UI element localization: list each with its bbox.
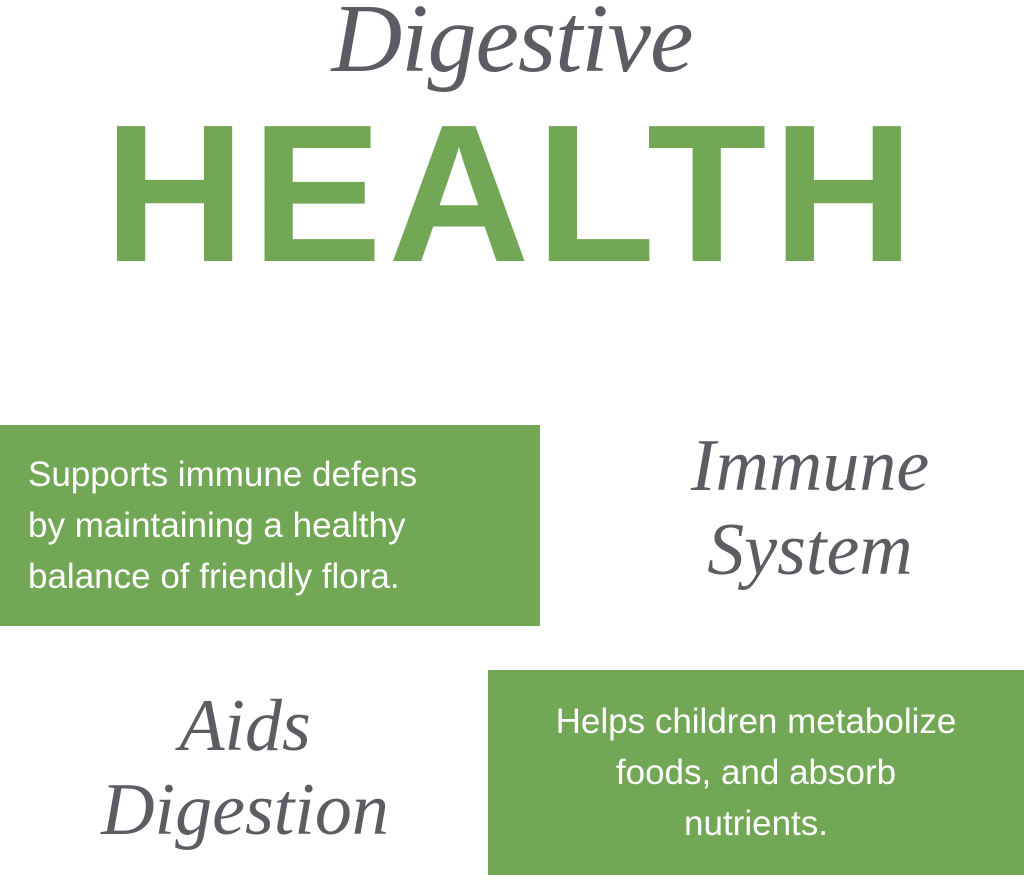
digestive-health-infographic: Digestive HEALTH Supports immune defens … bbox=[0, 0, 1024, 880]
page-title-script: Digestive bbox=[0, 0, 1024, 88]
callout-digestion-line-1: Helps children metabolize bbox=[556, 696, 957, 747]
callout-heading-aids-digestion: Aids Digestion bbox=[20, 684, 470, 852]
callout-heading-immune-system: Immune System bbox=[600, 424, 1020, 592]
callout-heading-immune-line-1: Immune bbox=[600, 424, 1020, 508]
callout-immune-line-1: Supports immune defens bbox=[28, 449, 417, 500]
callout-immune-line-3: balance of friendly flora. bbox=[28, 551, 400, 602]
callout-heading-digestion-line-2: Digestion bbox=[20, 768, 470, 852]
callout-immune-line-2: by maintaining a healthy bbox=[28, 500, 405, 551]
callout-digestion-line-2: foods, and absorb bbox=[616, 747, 896, 798]
callout-box-digestion: Helps children metabolize foods, and abs… bbox=[488, 670, 1024, 875]
callout-box-immune: Supports immune defens by maintaining a … bbox=[0, 425, 540, 626]
callout-heading-digestion-line-1: Aids bbox=[20, 684, 470, 768]
callout-digestion-line-3: nutrients. bbox=[684, 798, 828, 849]
page-title-main: HEALTH bbox=[0, 96, 1024, 292]
callout-heading-immune-line-2: System bbox=[600, 508, 1020, 592]
